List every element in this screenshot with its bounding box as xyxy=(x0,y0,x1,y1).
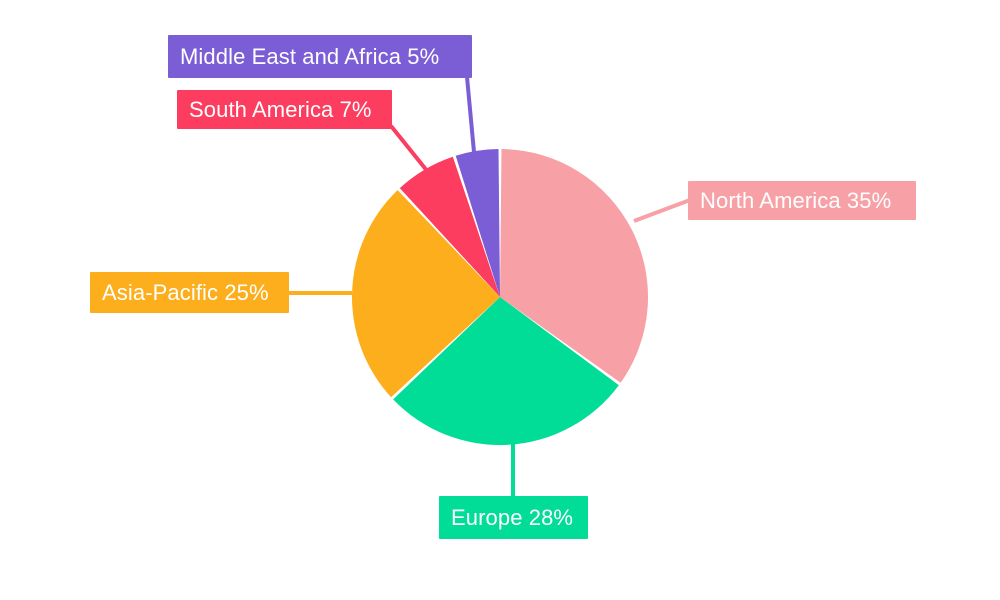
north-america-leader xyxy=(634,200,690,221)
pie-slices xyxy=(352,149,648,445)
slice-label-middle-east-and-africa[interactable]: Middle East and Africa 5% xyxy=(168,35,472,78)
middle-east-leader xyxy=(467,77,474,152)
slice-label-europe[interactable]: Europe 28% xyxy=(439,496,588,539)
slice-label-asia-pacific[interactable]: Asia-Pacific 25% xyxy=(90,272,289,313)
pie-chart-figure: Middle East and Africa 5% South America … xyxy=(0,0,1000,600)
slice-label-north-america[interactable]: North America 35% xyxy=(688,181,916,220)
slice-label-south-america[interactable]: South America 7% xyxy=(177,90,392,129)
south-america-leader xyxy=(391,126,428,172)
